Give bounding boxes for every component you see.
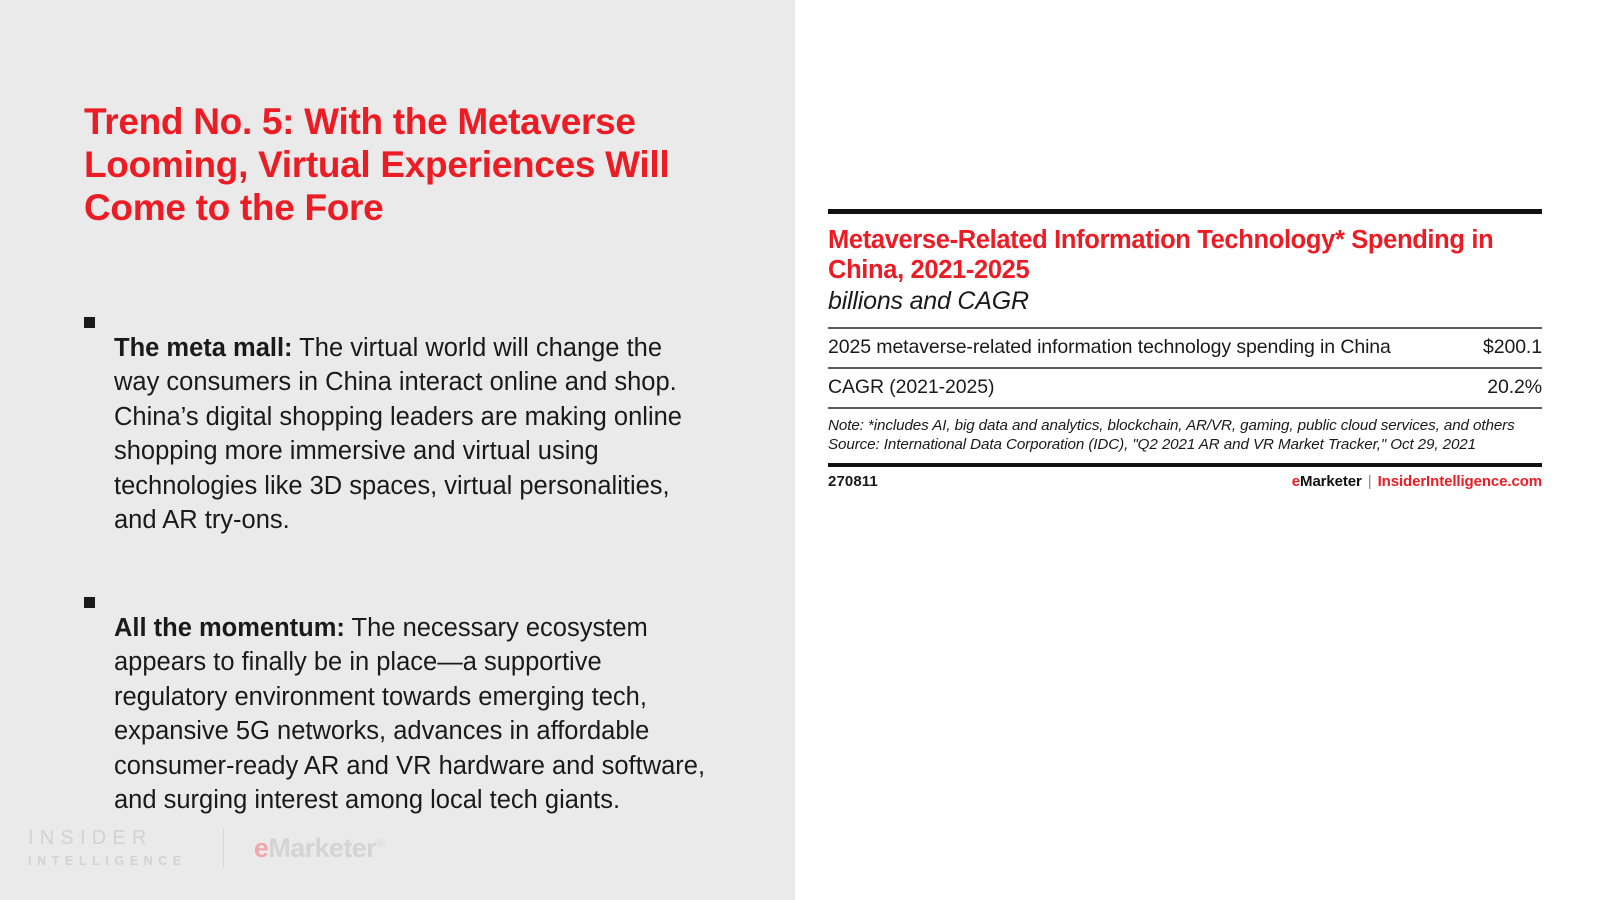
logo-divider [223,828,224,868]
emarketer-logo-rest: Marketer [268,833,376,863]
slide-root: Trend No. 5: With the Metaverse Looming,… [0,0,1600,900]
table-cell-label: 2025 metaverse-related information techn… [828,328,1474,368]
bullet-list: The meta mall: The virtual world will ch… [84,305,714,865]
bullet-body-text: The necessary ecosystem appears to final… [114,614,705,815]
chart-brand-attribution: eMarketer|InsiderIntelligence.com [1292,473,1542,490]
chart-card: Metaverse-Related Information Technology… [828,209,1542,490]
bullet-body-text: The virtual world will change the way co… [114,334,682,535]
chart-subtitle: billions and CAGR [828,286,1542,317]
square-bullet-icon [84,317,95,328]
chart-footnotes: Note: *includes AI, big data and analyti… [828,417,1542,454]
chart-id-number: 270811 [828,473,878,490]
page-title: Trend No. 5: With the Metaverse Looming,… [84,100,724,229]
insiderintelligence-url[interactable]: InsiderIntelligence.com [1378,473,1542,490]
square-bullet-icon [84,597,95,608]
emarketer-brand-rest: Marketer [1300,473,1362,490]
emarketer-brand-e: e [1292,473,1300,490]
card-bottom-rule [828,463,1542,467]
brand-separator: | [1362,473,1378,490]
table-cell-value: 20.2% [1474,368,1542,408]
chart-title: Metaverse-Related Information Technology… [828,225,1542,285]
intelligence-wordmark: INTELLIGENCE [28,855,187,868]
table-row: 2025 metaverse-related information techn… [828,328,1542,368]
bullet-text: The meta mall: The virtual world will ch… [114,331,714,538]
bullet-lead-label: The meta mall: [114,334,293,362]
table-cell-label: CAGR (2021-2025) [828,368,1474,408]
card-top-rule [828,209,1542,214]
chart-source: Source: International Data Corporation (… [828,436,1542,455]
insider-wordmark: INSIDER [28,828,187,848]
table-row: CAGR (2021-2025) 20.2% [828,368,1542,408]
table-cell-value: $200.1 [1474,328,1542,368]
bullet-text: All the momentum: The necessary ecosyste… [114,611,714,818]
data-table: 2025 metaverse-related information techn… [828,327,1542,409]
registered-mark-icon: ® [376,836,384,850]
chart-footer: 270811 eMarketer|InsiderIntelligence.com [828,473,1542,490]
left-content-panel: Trend No. 5: With the Metaverse Looming,… [0,0,795,900]
list-item: The meta mall: The virtual world will ch… [84,305,714,563]
emarketer-logo-e: e [254,833,268,863]
emarketer-logo: eMarketer® [254,833,384,864]
list-item: All the momentum: The necessary ecosyste… [84,585,714,843]
bullet-lead-label: All the momentum: [114,614,345,642]
chart-note: Note: *includes AI, big data and analyti… [828,417,1542,436]
insider-intelligence-logo: INSIDER INTELLIGENCE [28,828,187,868]
brand-logo-lockup: INSIDER INTELLIGENCE eMarketer® [28,822,384,874]
